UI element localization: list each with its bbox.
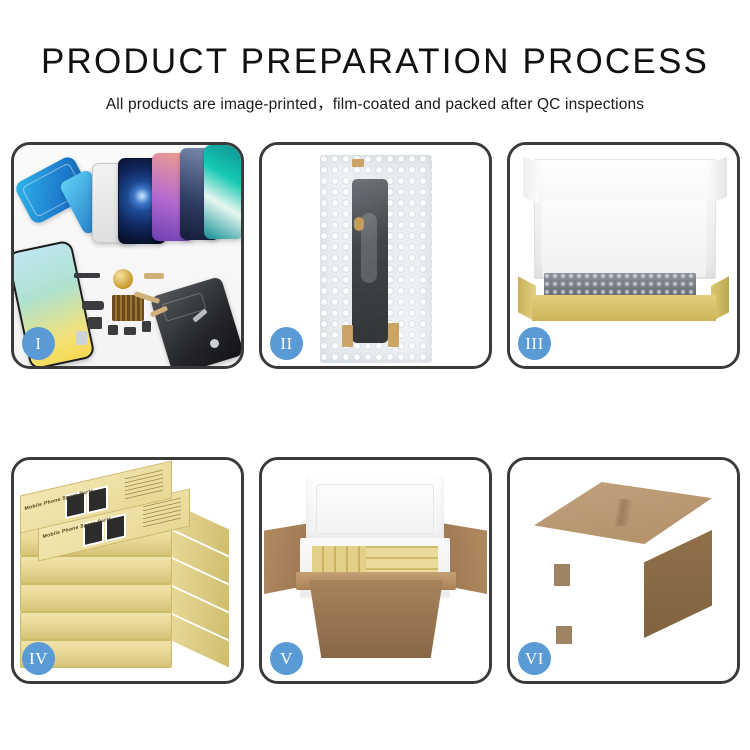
flex-cable-icon — [144, 273, 164, 279]
step-badge-5: V — [270, 642, 303, 675]
bubble-wrap-bag-icon — [320, 155, 432, 363]
product-preparation-infographic: PRODUCT PREPARATION PROCESS All products… — [0, 0, 750, 750]
tape-icon — [388, 323, 399, 347]
process-step-1: Assorted mobile phone LCD screens, displ… — [11, 142, 244, 369]
step-badge-3: III — [518, 327, 551, 360]
spare-part-icon — [74, 273, 100, 278]
page-subtitle: All products are image-printed，film-coat… — [0, 81, 750, 114]
speaker-module-icon — [113, 269, 133, 289]
foam-sheet-icon — [542, 201, 706, 277]
retail-box-icon — [20, 612, 172, 640]
carton-tape-icon — [556, 626, 572, 644]
process-step-5: Boxes loaded into foam box inside outer … — [259, 457, 492, 684]
process-step-3: Bubble wrapped parts placed into kraft i… — [507, 142, 740, 369]
retail-box-icon — [20, 584, 172, 612]
step-badge-1: I — [22, 327, 55, 360]
carton-body-icon — [300, 580, 452, 658]
step-badge-4: IV — [22, 642, 55, 675]
spare-part-icon — [108, 325, 118, 335]
header: PRODUCT PREPARATION PROCESS All products… — [0, 0, 750, 114]
foam-box-lid-icon — [306, 476, 444, 544]
carton-tape-icon — [554, 564, 570, 586]
carton-face-front-icon — [534, 530, 646, 642]
spare-part-icon — [76, 331, 87, 345]
logic-board-icon — [112, 295, 144, 321]
process-step-2: Individual part sealed in bubble wrap fi… — [259, 142, 492, 369]
kraft-box-front-icon — [532, 295, 716, 321]
box-stack-icon: Mobile Phone Spare Parts Mobile Phone Sp… — [20, 476, 234, 672]
process-step-grid: Assorted mobile phone LCD screens, displ… — [11, 142, 741, 687]
tape-icon — [342, 325, 353, 347]
process-step-6: Sealed outer shipping carton ready for d… — [507, 457, 740, 684]
spare-part-icon — [88, 317, 102, 329]
page-title: PRODUCT PREPARATION PROCESS — [0, 0, 750, 81]
carton-face-side-icon — [644, 530, 712, 638]
phone-display-teal-icon — [204, 145, 241, 239]
screw-icon — [210, 339, 219, 348]
spare-part-icon — [82, 301, 104, 310]
wrapped-phone-part-icon — [352, 179, 388, 343]
process-step-4: Mobile Phone Spare Parts Mobile Phone Sp… — [11, 457, 244, 684]
tape-icon — [352, 159, 364, 167]
step-badge-6: VI — [518, 642, 551, 675]
step-badge-2: II — [270, 327, 303, 360]
spare-part-icon — [124, 327, 136, 335]
spare-part-icon — [142, 321, 151, 332]
tape-icon — [354, 217, 364, 231]
